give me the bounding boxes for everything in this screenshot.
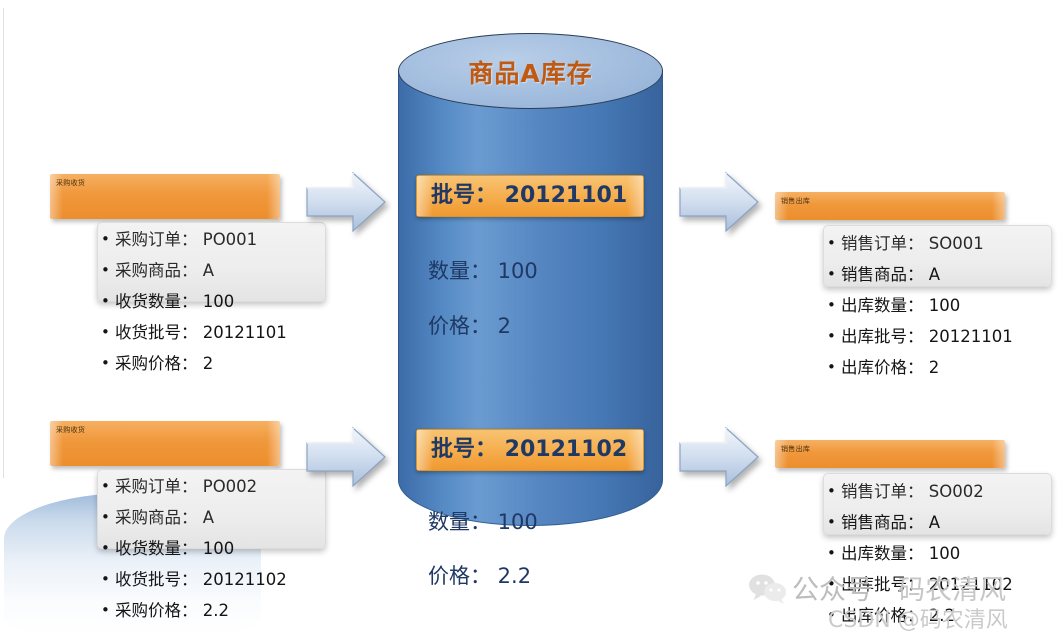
batch-badge-2[interactable]: 批号： 20121102: [416, 429, 644, 471]
arrow-right-icon-outbound-1: [678, 170, 760, 234]
list-item: 采购价格： 2: [100, 348, 287, 379]
arrow-right-icon-inbound-1: [305, 170, 387, 234]
purchase-panel-2-list: 采购订单： PO002 采购商品： A 收货数量： 100 收货批号： 2012…: [100, 471, 287, 626]
list-item: 销售商品： A: [826, 507, 1013, 538]
batch-badge-1-text: 批号： 20121101: [417, 176, 643, 216]
list-item: 采购商品： A: [100, 502, 287, 533]
list-item: 出库批号： 20121101: [826, 321, 1013, 352]
sales-panel-2-header: 销售出库: [775, 440, 1005, 468]
list-item: 收货数量： 100: [100, 533, 287, 564]
batch-2-price: 价格： 2.2: [428, 560, 531, 590]
left-edge-rule: [3, 8, 4, 478]
cylinder-title: 商品A库存: [398, 54, 663, 90]
purchase-panel-1-list: 采购订单： PO001 采购商品： A 收货数量： 100 收货批号： 2012…: [100, 224, 287, 379]
list-item: 销售订单： SO001: [826, 228, 1013, 259]
list-item: 收货数量： 100: [100, 286, 287, 317]
list-item: 收货批号： 20121101: [100, 317, 287, 348]
list-item: 出库数量： 100: [826, 538, 1013, 569]
list-item: 采购订单： PO002: [100, 471, 287, 502]
sales-panel-1-list: 销售订单： SO001 销售商品： A 出库数量： 100 出库批号： 2012…: [826, 228, 1013, 383]
arrow-right-icon-inbound-2: [305, 425, 387, 489]
sales-panel-1-header: 销售出库: [775, 192, 1005, 220]
list-item: 销售订单： SO002: [826, 476, 1013, 507]
purchase-panel-2-header-label: 采购收货: [56, 425, 85, 435]
bevel-right: [267, 421, 280, 466]
list-item: 出库数量： 100: [826, 290, 1013, 321]
batch-1-price: 价格： 2: [428, 310, 511, 340]
purchase-panel-1-header-label: 采购收货: [56, 178, 85, 188]
list-item: 采购商品： A: [100, 255, 287, 286]
arrow-right-icon-outbound-2: [678, 425, 760, 489]
list-item: 出库价格： 2: [826, 352, 1013, 383]
list-item: 出库价格： 2.2: [826, 600, 1013, 631]
list-item: 采购价格： 2.2: [100, 595, 287, 626]
diagram-canvas: 商品A库存 批号： 20121101 数量： 100 价格： 2 批号： 201…: [0, 0, 1063, 637]
wechat-icon: [748, 572, 788, 604]
list-item: 采购订单： PO001: [100, 224, 287, 255]
purchase-panel-1-header: 采购收货: [50, 174, 280, 219]
list-item: 出库批号： 20121102: [826, 569, 1013, 600]
batch-badge-2-text: 批号： 20121102: [417, 430, 643, 470]
batch-1-quantity: 数量： 100: [428, 255, 538, 285]
inventory-cylinder: 商品A库存 批号： 20121101 数量： 100 价格： 2 批号： 201…: [398, 33, 663, 533]
batch-badge-1[interactable]: 批号： 20121101: [416, 175, 644, 217]
list-item: 销售商品： A: [826, 259, 1013, 290]
batch-2-quantity: 数量： 100: [428, 506, 538, 536]
list-item: 收货批号： 20121102: [100, 564, 287, 595]
bevel-right: [992, 192, 1005, 220]
bevel-right: [992, 440, 1005, 468]
sales-panel-1-header-label: 销售出库: [781, 196, 810, 206]
sales-panel-2-list: 销售订单： SO002 销售商品： A 出库数量： 100 出库批号： 2012…: [826, 476, 1013, 631]
sales-panel-2-header-label: 销售出库: [781, 444, 810, 454]
bevel-right: [267, 174, 280, 219]
purchase-panel-2-header: 采购收货: [50, 421, 280, 466]
